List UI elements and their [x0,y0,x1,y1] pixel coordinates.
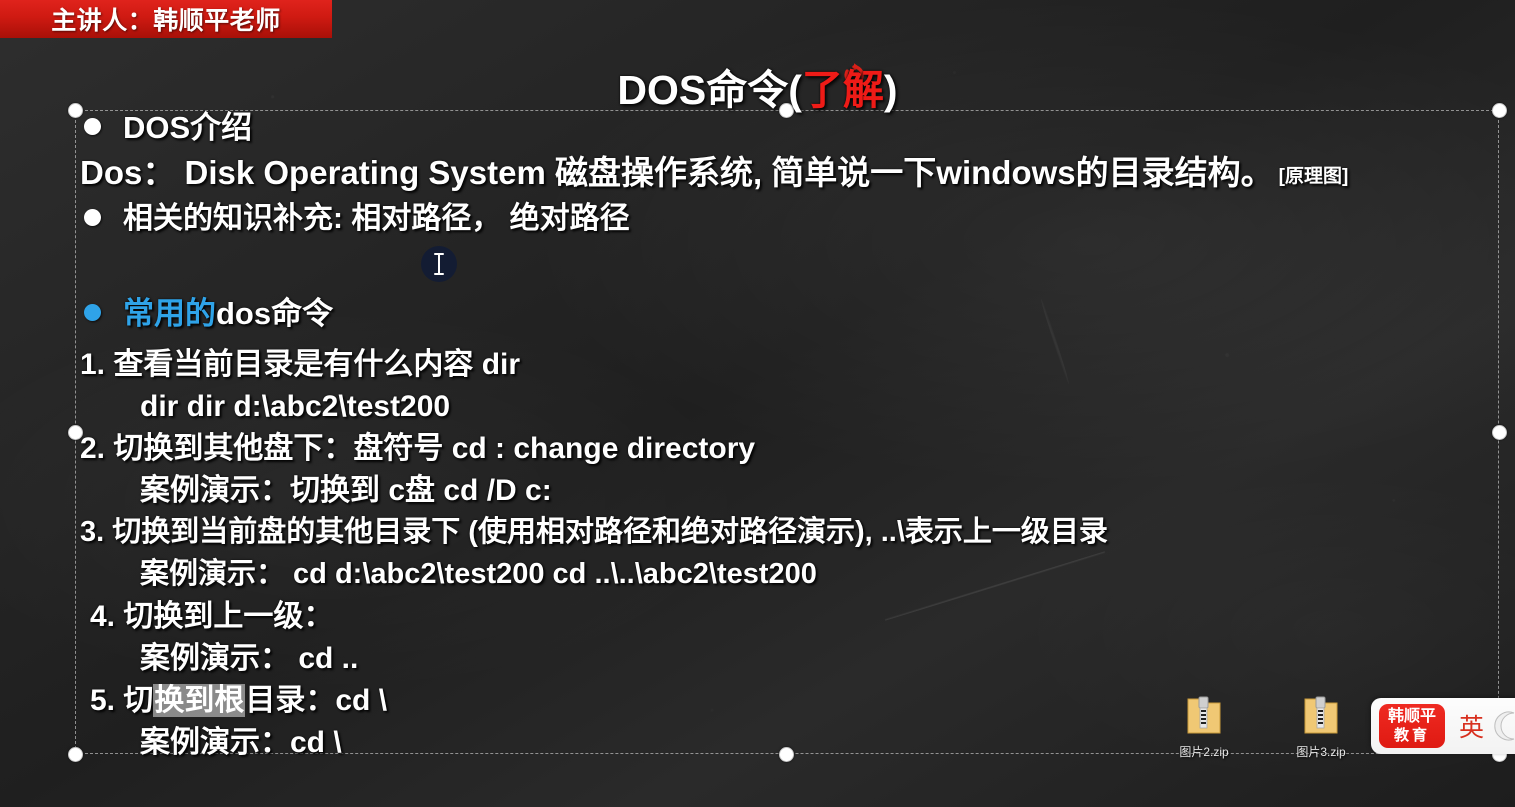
text-caret-icon [421,246,457,282]
line-text-emphasis: 常用的 [123,296,216,331]
line-spacer [78,252,1508,298]
list-item-1: 1. 查看当前目录是有什么内容 dir [78,350,1508,392]
bullet-line-dos-intro: DOS介绍 [78,112,1508,156]
list-item[interactable]: 图片2.zip [1161,696,1247,760]
slide-body[interactable]: DOS介绍 Dos： Disk Operating System 磁盘操作系统,… [78,112,1508,770]
line-text: dos命令 [216,296,333,331]
ime-mode-toggle[interactable]: 英 [1459,708,1484,744]
slide-title-main: DOS命令( [617,67,802,113]
moon-icon[interactable] [1494,711,1515,741]
file-label: 图片2.zip [1161,743,1247,760]
ime-language-bar[interactable]: 韩顺平 教育 英 [1371,698,1515,754]
line-text-pre: 5. 切 [90,684,153,717]
selected-text-highlight: 换到根 [153,684,245,717]
bullet-dot-icon [84,209,101,226]
list-item-2-detail: 案例演示：切换到 c盘 cd /D c: [78,476,1508,518]
slide-title-tail: ) [884,67,898,113]
list-item-4-detail: 案例演示： cd .. [78,644,1508,686]
line-text: 相关的知识补充: 相对路径， 绝对路径 [123,202,630,235]
line-text: Dos： Disk Operating System 磁盘操作系统, 简单说一下… [80,154,1274,191]
list-item-3: 3. 切换到当前盘的其他目录下 (使用相对路径和绝对路径演示), ..\表示上一… [78,518,1508,560]
line-note: [原理图] [1279,166,1349,187]
bullet-dot-blue-icon [84,304,101,321]
file-label: 图片3.zip [1278,743,1364,760]
list-item-2: 2. 切换到其他盘下：盘符号 cd : change directory [78,434,1508,476]
list-item-3-detail: 案例演示： cd d:\abc2\test200 cd ..\..\abc2\t… [78,560,1508,602]
list-item-4: 4. 切换到上一级： [78,602,1508,644]
presenter-label: 主讲人：韩顺平老师 [51,1,281,37]
presentation-slide: 主讲人：韩顺平老师 DOS命令(了解) DOS介绍 Dos： Disk Oper… [0,0,1515,807]
presenter-banner: 主讲人：韩顺平老师 [0,0,332,38]
line-dos-definition: Dos： Disk Operating System 磁盘操作系统, 简单说一下… [78,156,1508,204]
list-item-1-detail: dir dir d:\abc2\test200 [78,392,1508,434]
ime-logo-line2: 教育 [1394,728,1430,743]
zip-archive-icon [1303,696,1339,736]
list-item[interactable]: 图片3.zip [1278,696,1364,760]
zip-archive-icon [1186,696,1222,736]
slide-title: DOS命令(了解) [0,56,1515,116]
bullet-dot-icon [84,118,101,135]
ime-brand-logo[interactable]: 韩顺平 教育 [1379,704,1445,748]
slide-title-emphasis: 了解 [802,67,884,113]
bullet-line-knowledge-supplement: 相关的知识补充: 相对路径， 绝对路径 [78,204,1508,252]
ime-logo-line1: 韩顺平 [1388,709,1436,725]
bullet-line-common-dos-commands: 常用的dos命令 [78,298,1508,350]
line-text-post: 目录：cd \ [245,684,387,717]
